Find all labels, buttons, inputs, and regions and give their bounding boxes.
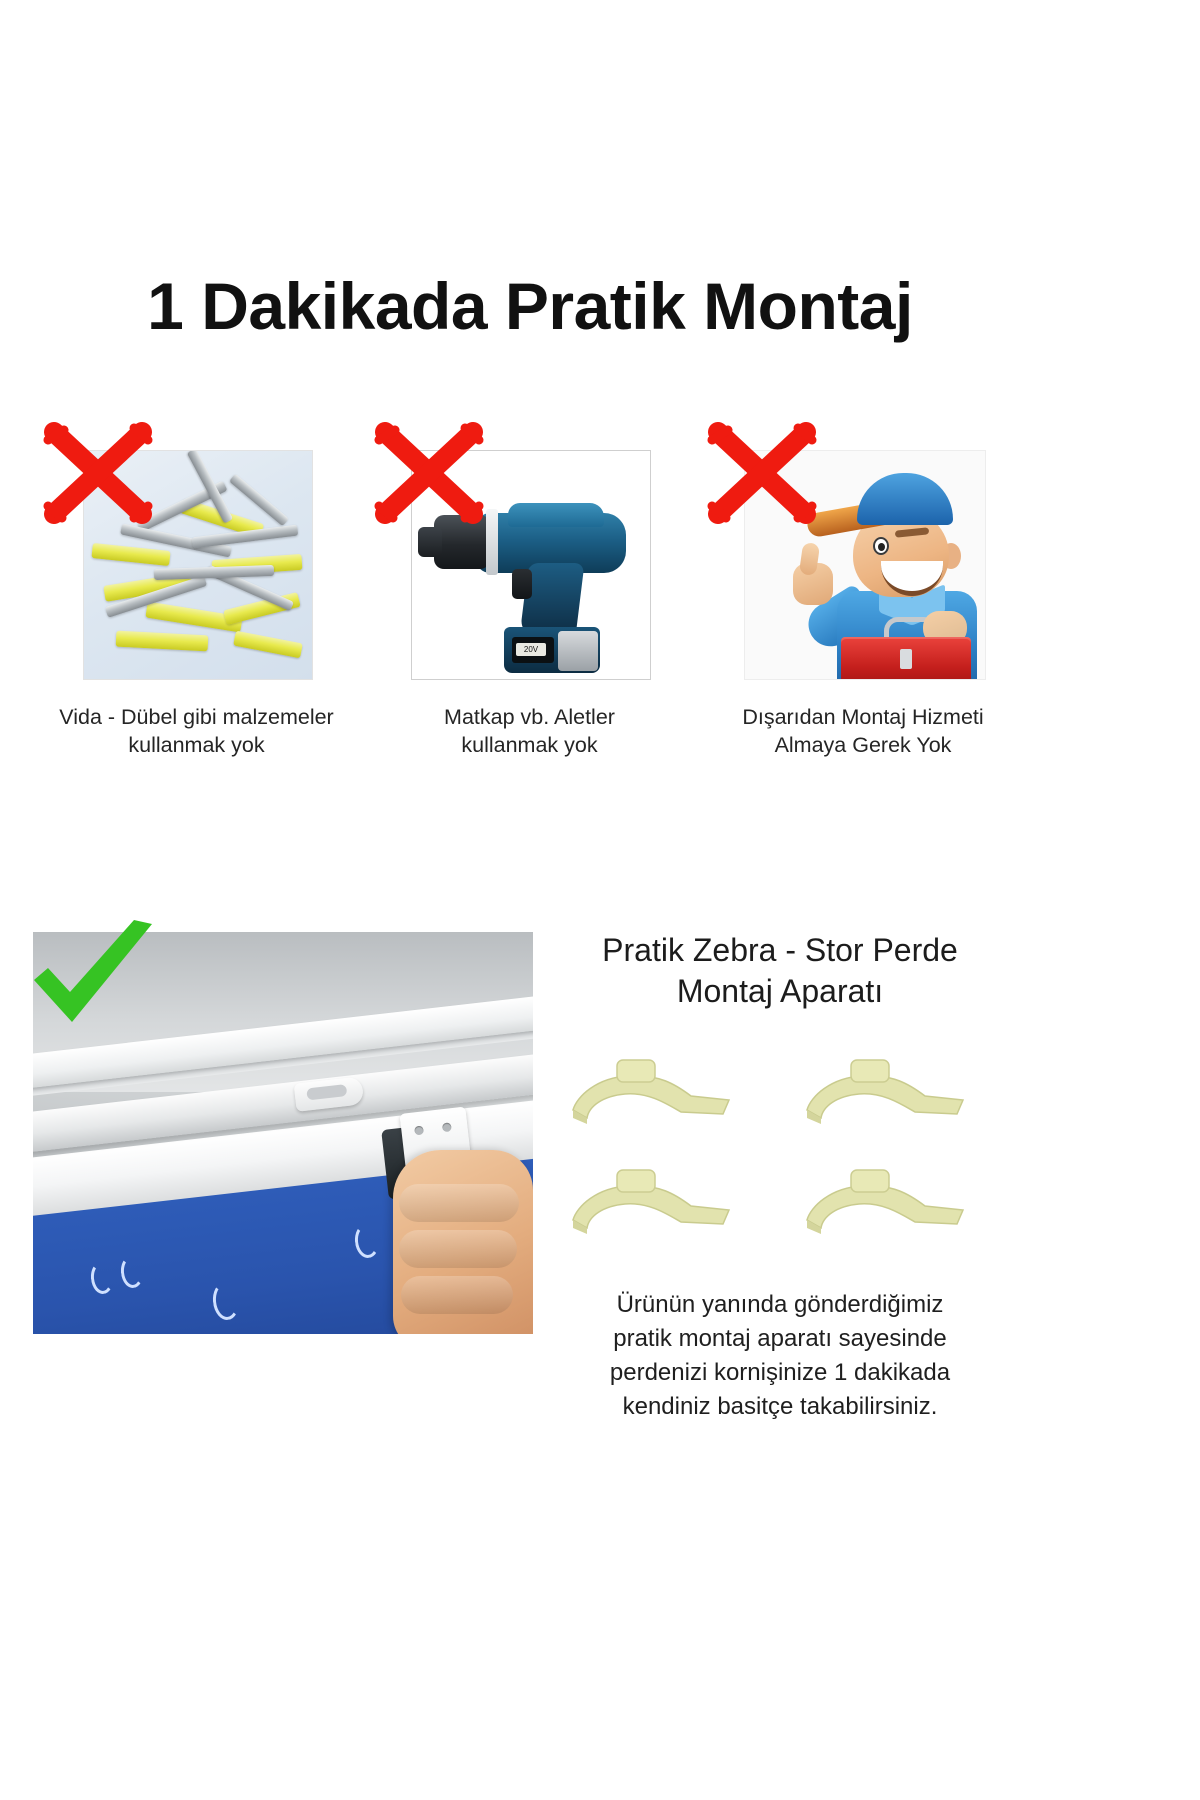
no-card-drill: 20V Matkap vb. Aletler kullanmak yok [363, 408, 696, 778]
no-card-caption: Vida - Dübel gibi malzemeler kullanmak y… [30, 704, 363, 759]
description-line-4: kendiniz basitçe takabilirsiniz. [545, 1390, 1015, 1424]
mounting-clip-icon [563, 1048, 743, 1126]
product-description: Ürünün yanında gönderdiğimiz pratik mont… [545, 1288, 1015, 1424]
caption-line-2: Almaya Gerek Yok [696, 732, 1030, 760]
no-cards-row: Vida - Dübel gibi malzemeler kullanmak y… [30, 408, 1030, 778]
hand [393, 1150, 533, 1334]
mounting-clips-image [545, 1040, 1015, 1270]
description-line-3: perdenizi kornişinize 1 dakikada [545, 1356, 1015, 1390]
mounting-clip-icon [797, 1048, 977, 1126]
green-check-icon [28, 918, 158, 1036]
page-title: 1 Dakikada Pratik Montaj [0, 272, 1060, 341]
mounting-clip-icon [797, 1158, 977, 1236]
caption-line-1: Dışarıdan Montaj Hizmeti [696, 704, 1030, 732]
product-info-panel: Pratik Zebra - Stor Perde Montaj Aparatı [545, 930, 1015, 1424]
caption-line-2: kullanmak yok [363, 732, 696, 760]
caption-line-1: Vida - Dübel gibi malzemeler [30, 704, 363, 732]
no-card-screws-dowels: Vida - Dübel gibi malzemeler kullanmak y… [30, 408, 363, 778]
drill-battery-label: 20V [516, 643, 546, 656]
red-cross-icon [38, 414, 158, 534]
red-cross-icon [702, 414, 822, 534]
caption-line-1: Matkap vb. Aletler [363, 704, 696, 732]
no-card-caption: Matkap vb. Aletler kullanmak yok [363, 704, 696, 759]
red-cross-icon [369, 414, 489, 534]
product-heading-line-2: Montaj Aparatı [545, 971, 1015, 1012]
product-heading: Pratik Zebra - Stor Perde Montaj Aparatı [545, 930, 1015, 1012]
caption-line-2: kullanmak yok [30, 732, 363, 760]
description-line-1: Ürünün yanında gönderdiğimiz [545, 1288, 1015, 1322]
no-card-caption: Dışarıdan Montaj Hizmeti Almaya Gerek Yo… [696, 704, 1030, 759]
mounting-clip-icon [563, 1158, 743, 1236]
description-line-2: pratik montaj aparatı sayesinde [545, 1322, 1015, 1356]
product-heading-line-1: Pratik Zebra - Stor Perde [545, 930, 1015, 971]
no-card-installer: Dışarıdan Montaj Hizmeti Almaya Gerek Yo… [696, 408, 1030, 778]
promo-page: 1 Dakikada Pratik Montaj [0, 0, 1200, 1800]
